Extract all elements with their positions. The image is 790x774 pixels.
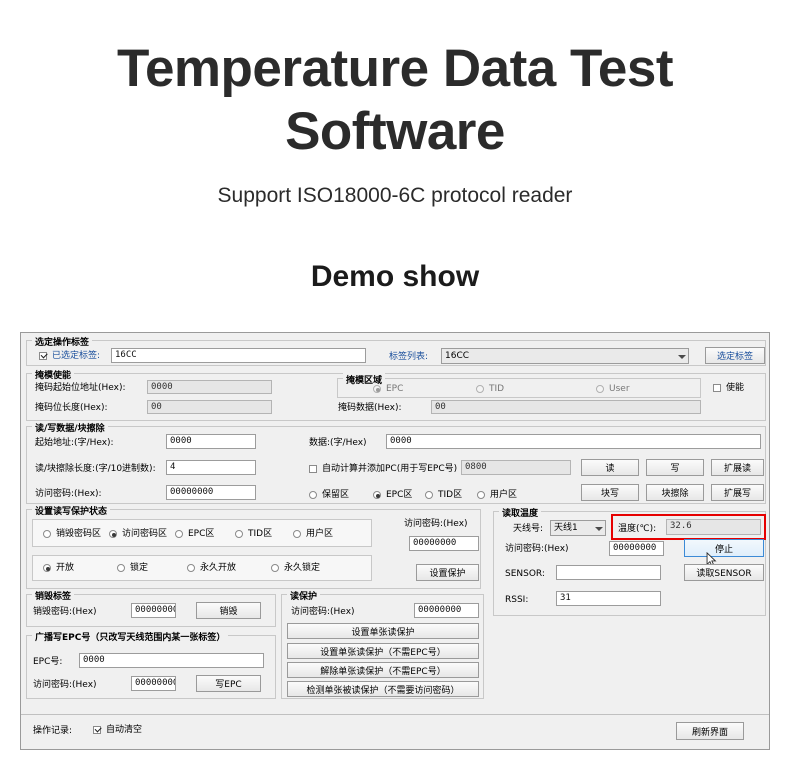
protect-area-radio-tid[interactable]: TID区	[235, 529, 272, 540]
protect-state-radio-permanent-lock[interactable]: 永久锁定	[271, 563, 320, 574]
protect-area-radio-epc[interactable]: EPC区	[175, 529, 214, 540]
read-protect-password-label: 访问密码:(Hex)	[291, 607, 355, 618]
read-write-group-caption: 读/写数据/块擦除	[32, 421, 108, 434]
rssi-input[interactable]: 31	[556, 591, 661, 606]
rw-bank-radio-tid[interactable]: TID区	[425, 490, 462, 501]
temperature-password-input[interactable]: 00000000	[609, 541, 664, 556]
rw-password-input[interactable]: 00000000	[166, 485, 256, 500]
temperature-label: 温度(℃):	[618, 524, 656, 535]
mask-region-radio-user[interactable]: User	[596, 384, 630, 395]
application-window: 选定操作标签 已选定标签: 16CC 标签列表: 16CC 选定标签 掩模使能 …	[20, 332, 770, 750]
protect-password-input[interactable]: 00000000	[409, 536, 479, 551]
kill-tag-group-caption: 销毁标签	[32, 589, 74, 602]
log-label: 操作记录:	[33, 726, 72, 737]
mask-start-addr-input[interactable]: 0000	[147, 380, 272, 394]
stop-button[interactable]: 停止	[684, 539, 764, 557]
tag-list-select[interactable]: 16CC	[441, 348, 689, 364]
read-sensor-button[interactable]: 读取SENSOR	[684, 564, 764, 581]
broadcast-epc-group-caption: 广播写EPC号（只改写天线范围内某一张标签）	[32, 630, 228, 643]
page-title-line1: Temperature Data Test	[117, 39, 673, 98]
mask-enable-checkbox[interactable]: 使能	[713, 383, 744, 394]
read-button[interactable]: 读	[581, 459, 639, 476]
mask-data-label: 掩码数据(Hex):	[338, 403, 402, 414]
write-epc-button[interactable]: 写EPC	[196, 675, 261, 692]
temperature-password-label: 访问密码:(Hex)	[505, 544, 569, 555]
protect-password-label: 访问密码:(Hex)	[404, 519, 468, 530]
rw-length-label: 读/块擦除长度:(字/10进制数):	[35, 464, 156, 475]
read-protect-group-caption: 读保护	[287, 589, 320, 602]
protect-state-radio-permanent-open[interactable]: 永久开放	[187, 563, 236, 574]
read-protect-password-input[interactable]: 00000000	[414, 603, 479, 618]
selected-tag-input[interactable]: 16CC	[111, 348, 366, 363]
block-erase-button[interactable]: 块擦除	[646, 484, 704, 501]
sensor-input[interactable]	[556, 565, 661, 580]
auto-clear-checkbox[interactable]: 自动清空	[93, 725, 142, 736]
refresh-interface-button[interactable]: 刷新界面	[676, 722, 744, 740]
set-single-read-protect-button[interactable]: 设置单张读保护	[287, 623, 479, 639]
broadcast-password-label: 访问密码:(Hex)	[33, 680, 97, 691]
status-bar: 操作记录: 自动清空 刷新界面	[21, 714, 769, 749]
antenna-value: 天线1	[554, 523, 578, 533]
write-button[interactable]: 写	[646, 459, 704, 476]
protect-area-radio-access-password[interactable]: 访问密码区	[109, 529, 167, 540]
block-write-button[interactable]: 块写	[581, 484, 639, 501]
release-single-read-protect-no-epc-button[interactable]: 解除单张读保护（不需EPC号）	[287, 662, 479, 678]
set-single-read-protect-no-epc-button[interactable]: 设置单张读保护（不需EPC号）	[287, 643, 479, 659]
rw-start-addr-label: 起始地址:(字/Hex):	[35, 438, 114, 449]
rw-pc-input[interactable]: 0800	[461, 460, 571, 475]
mask-bit-length-input[interactable]: 00	[147, 400, 272, 414]
broadcast-password-input[interactable]: 00000000	[131, 676, 176, 691]
rw-bank-radio-reserved[interactable]: 保留区	[309, 490, 349, 501]
antenna-select[interactable]: 天线1	[550, 520, 606, 536]
protect-area-radio-user[interactable]: 用户区	[293, 529, 333, 540]
tag-list-value: 16CC	[445, 351, 469, 361]
mask-bit-length-label: 掩码位长度(Hex):	[35, 403, 108, 414]
page-title: Temperature Data Test Software	[0, 38, 790, 163]
temperature-group-caption: 读取温度	[499, 506, 541, 519]
kill-password-input[interactable]: 00000000	[131, 603, 176, 618]
rw-bank-radio-user[interactable]: 用户区	[477, 490, 517, 501]
rw-data-input[interactable]: 0000	[386, 434, 761, 449]
mask-start-addr-label: 掩码起始位地址(Hex):	[35, 383, 126, 394]
page-title-line2: Software	[285, 102, 505, 161]
broadcast-epc-input[interactable]: 0000	[79, 653, 264, 668]
broadcast-epc-label: EPC号:	[33, 657, 62, 668]
extended-write-button[interactable]: 扩展写	[711, 484, 764, 501]
mask-data-input[interactable]: 00	[431, 400, 701, 414]
set-protection-button[interactable]: 设置保护	[416, 564, 479, 581]
protect-state-radio-open[interactable]: 开放	[43, 563, 74, 574]
chevron-down-icon	[594, 524, 603, 533]
extended-read-button[interactable]: 扩展读	[711, 459, 764, 476]
rw-password-label: 访问密码:(Hex):	[35, 489, 102, 500]
protect-group-caption: 设置读写保护状态	[32, 504, 110, 517]
poster-header: Temperature Data Test Software Support I…	[0, 0, 790, 294]
select-tag-group-caption: 选定操作标签	[32, 335, 92, 348]
stop-button-label: 停止	[715, 542, 733, 555]
sensor-label: SENSOR:	[505, 569, 545, 580]
kill-button[interactable]: 销毁	[196, 602, 261, 619]
protect-area-radio-kill-password[interactable]: 销毁密码区	[43, 529, 101, 540]
select-tag-button[interactable]: 选定标签	[705, 347, 765, 364]
rw-start-addr-input[interactable]: 0000	[166, 434, 256, 449]
rw-bank-radio-epc[interactable]: EPC区	[373, 490, 412, 501]
demo-show-heading: Demo show	[0, 260, 790, 294]
tag-list-label: 标签列表:	[389, 352, 428, 363]
mask-group-caption: 掩模使能	[32, 368, 74, 381]
rw-length-input[interactable]: 4	[166, 460, 256, 475]
page-subtitle: Support ISO18000-6C protocol reader	[0, 184, 790, 208]
selected-tag-checkbox[interactable]: 已选定标签:	[39, 351, 100, 362]
auto-pc-checkbox[interactable]: 自动计算并添加PC(用于写EPC号)	[309, 464, 457, 475]
rssi-label: RSSI:	[505, 595, 528, 606]
temperature-value-input[interactable]: 32.6	[666, 519, 761, 535]
protect-state-radio-lock[interactable]: 锁定	[117, 563, 148, 574]
mask-region-radio-epc[interactable]: EPC	[373, 384, 403, 395]
rw-data-label: 数据:(字/Hex)	[309, 438, 367, 449]
mask-region-radio-tid[interactable]: TID	[476, 384, 504, 395]
kill-password-label: 销毁密码:(Hex)	[33, 607, 97, 618]
detect-single-read-protect-button[interactable]: 检测单张被读保护（不需要访问密码）	[287, 681, 479, 697]
chevron-down-icon	[677, 352, 686, 361]
antenna-label: 天线号:	[513, 524, 543, 535]
